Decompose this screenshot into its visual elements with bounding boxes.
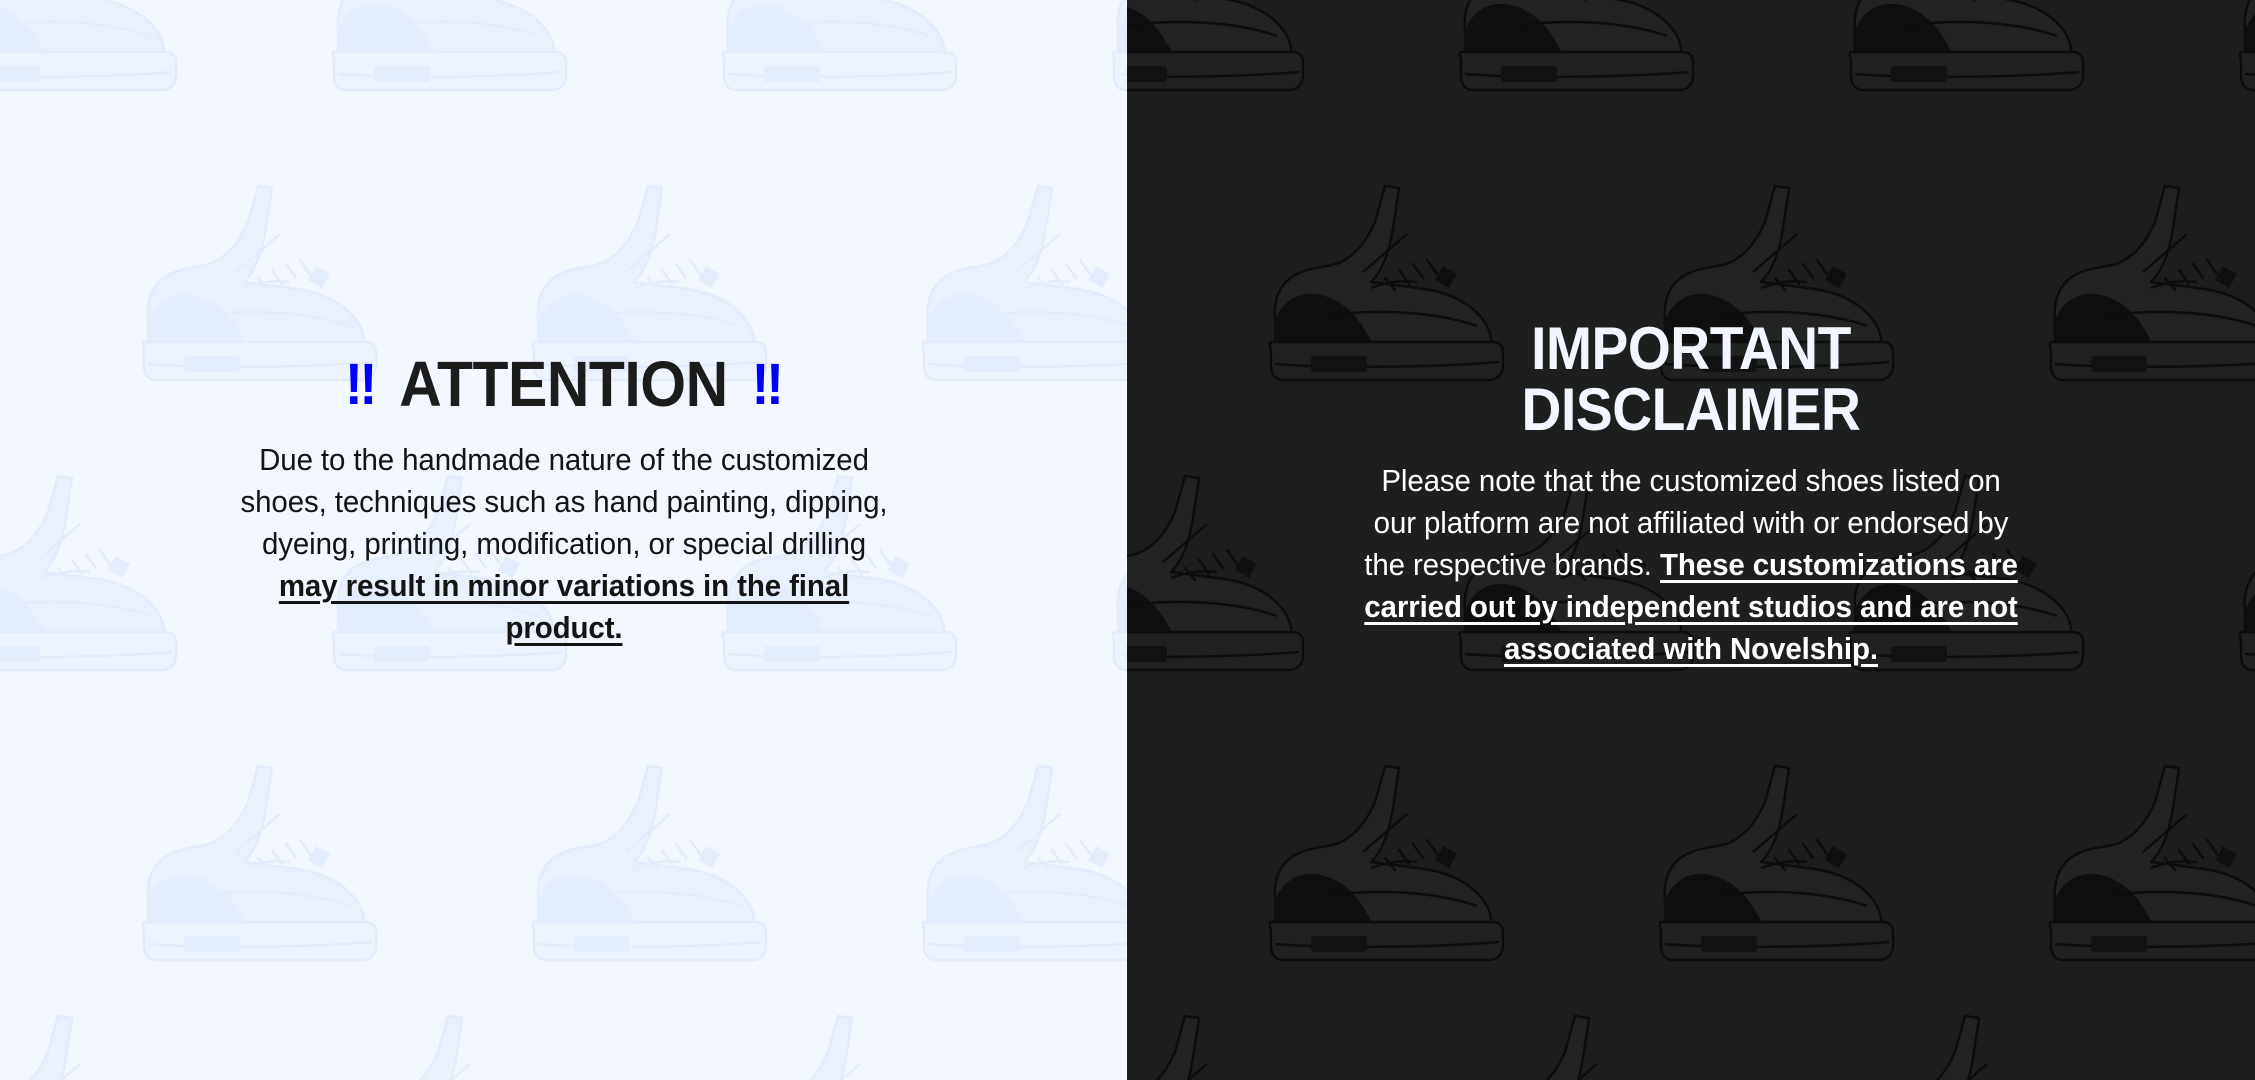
disclaimer-heading-line-1: IMPORTANT (1531, 315, 1851, 382)
attention-panel: ‼ATTENTION‼ Due to the handmade nature o… (0, 0, 1127, 1080)
disclaimer-heading-line-2: DISCLAIMER (1522, 376, 1861, 443)
double-exclamation-icon-right: ‼ (752, 352, 782, 417)
attention-body-normal: Due to the handmade nature of the custom… (240, 442, 887, 561)
attention-body: Due to the handmade nature of the custom… (236, 439, 892, 649)
split-banner: ‼ATTENTION‼ Due to the handmade nature o… (0, 0, 2255, 1080)
disclaimer-heading: IMPORTANT DISCLAIMER (1237, 318, 2146, 440)
attention-heading-text: ATTENTION (399, 348, 727, 420)
disclaimer-body: Please note that the customized shoes li… (1359, 460, 2024, 670)
double-exclamation-icon-left: ‼ (345, 352, 375, 417)
disclaimer-panel: IMPORTANT DISCLAIMER Please note that th… (1127, 0, 2255, 1080)
disclaimer-content: IMPORTANT DISCLAIMER Please note that th… (1127, 318, 2255, 670)
attention-heading: ‼ATTENTION‼ (109, 352, 1017, 417)
attention-content: ‼ATTENTION‼ Due to the handmade nature o… (0, 352, 1127, 649)
attention-body-emphasis: may result in minor variations in the fi… (278, 568, 848, 645)
